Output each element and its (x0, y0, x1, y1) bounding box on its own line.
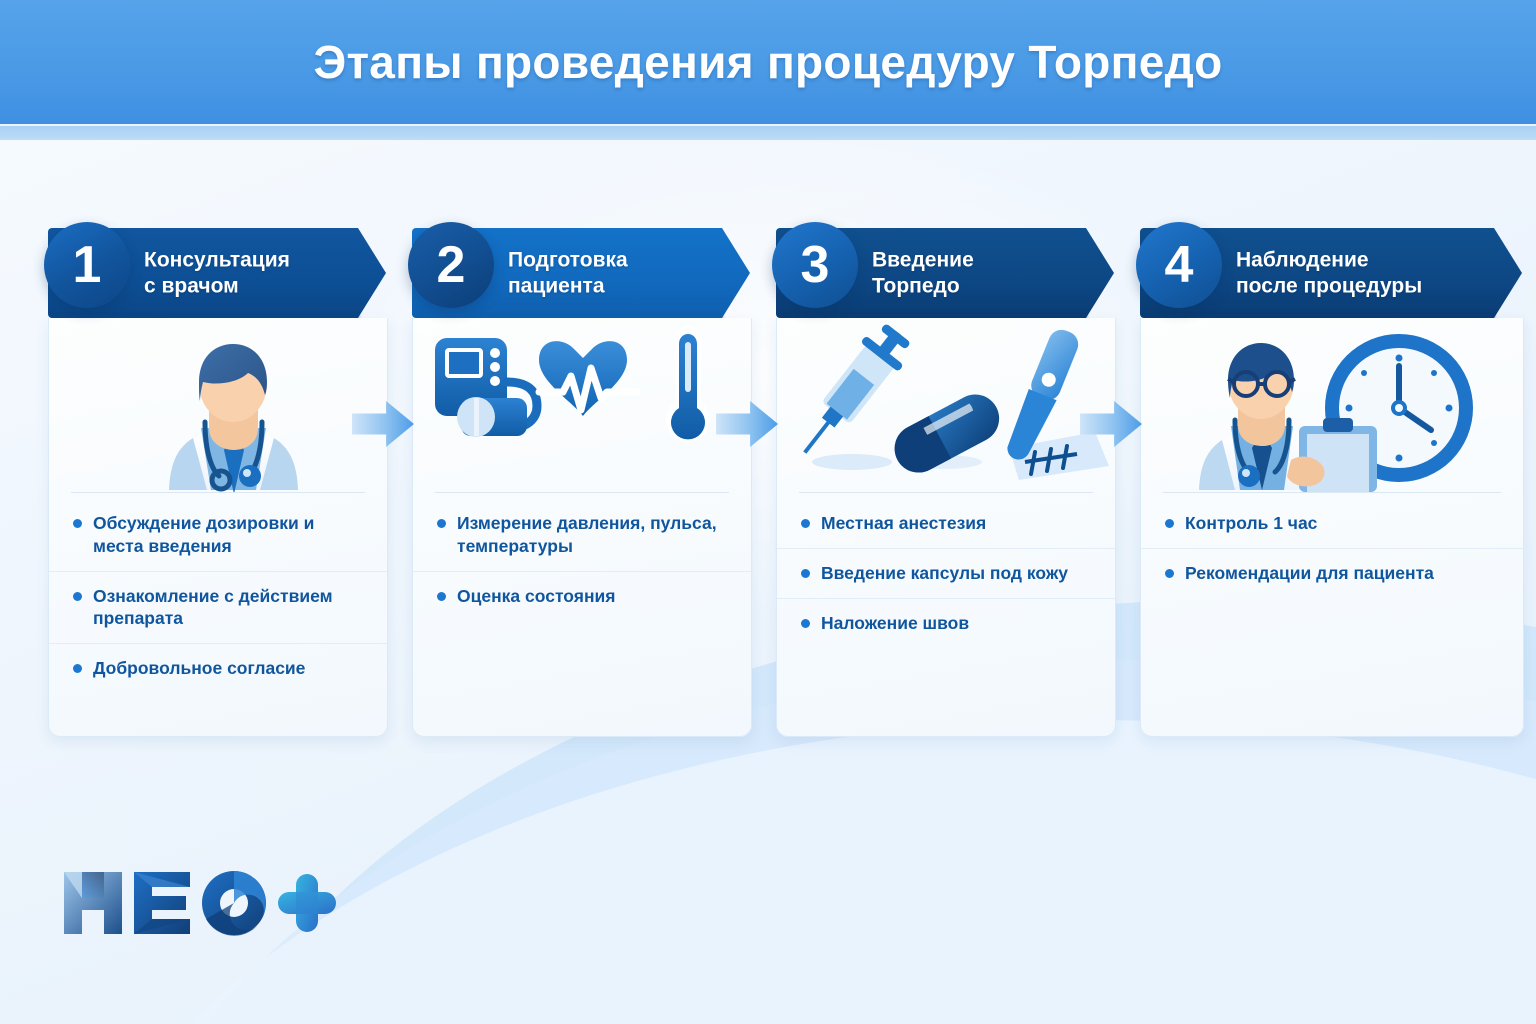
step-4-body: Контроль 1 час Рекомендации для пациента (1140, 318, 1524, 737)
list-item: Введение капсулы под кожу (777, 549, 1115, 599)
doctor-stethoscope-icon (49, 322, 387, 492)
step-2-title: Подготовка пациента (508, 247, 628, 298)
step-3-body: Местная анестезия Введение капсулы под к… (776, 318, 1116, 737)
steps-row: Консультация с врачом 1 (0, 228, 1536, 748)
arrow-step-1-to-2-icon (352, 400, 414, 448)
step-1-bullet-list: Обсуждение дозировки и места введения Оз… (49, 493, 387, 693)
step-card-2[interactable]: Подготовка пациента 2 (412, 228, 746, 737)
infographic-stage: Этапы проведения процедуру Торпедо Консу… (0, 0, 1536, 1024)
step-4-number-badge: 4 (1136, 222, 1222, 308)
step-1-number-badge: 1 (44, 222, 130, 308)
list-item: Добровольное согласие (49, 644, 387, 693)
page-header: Этапы проведения процедуру Торпедо (0, 0, 1536, 124)
blood-pressure-heart-thermometer-icon (413, 322, 751, 492)
step-2-banner: Подготовка пациента 2 (412, 228, 750, 318)
list-item: Обсуждение дозировки и места введения (49, 499, 387, 572)
doctor-clipboard-clock-icon (1141, 322, 1523, 492)
list-item: Оценка состояния (413, 572, 751, 621)
step-4-banner: Наблюдение после процедуры 4 (1140, 228, 1522, 318)
step-1-title: Консультация с врачом (144, 247, 290, 298)
page-title: Этапы проведения процедуру Торпедо (313, 35, 1222, 89)
list-item: Контроль 1 час (1141, 499, 1523, 549)
step-card-3[interactable]: Введение Торпедо 3 (776, 228, 1110, 737)
step-4-title: Наблюдение после процедуры (1236, 247, 1422, 298)
step-2-number-badge: 2 (408, 222, 494, 308)
step-3-number-badge: 3 (772, 222, 858, 308)
step-1-banner: Консультация с врачом 1 (48, 228, 386, 318)
list-item: Измерение давления, пульса, температуры (413, 499, 751, 572)
step-card-4[interactable]: Наблюдение после процедуры 4 (1140, 228, 1474, 737)
step-3-title: Введение Торпедо (872, 247, 974, 298)
syringe-capsule-scalpel-icon (777, 322, 1115, 492)
arrow-step-3-to-4-icon (1080, 400, 1142, 448)
step-3-bullet-list: Местная анестезия Введение капсулы под к… (777, 493, 1115, 647)
step-2-bullet-list: Измерение давления, пульса, температуры … (413, 493, 751, 620)
step-4-bullet-list: Контроль 1 час Рекомендации для пациента (1141, 493, 1523, 598)
arrow-step-2-to-3-icon (716, 400, 778, 448)
logo-plus-icon (278, 874, 336, 932)
step-3-banner: Введение Торпедо 3 (776, 228, 1114, 318)
logo-letter-e (134, 872, 190, 934)
list-item: Местная анестезия (777, 499, 1115, 549)
list-item: Рекомендации для пациента (1141, 549, 1523, 598)
step-1-body: Обсуждение дозировки и места введения Оз… (48, 318, 388, 737)
brand-logo[interactable] (62, 866, 362, 940)
list-item: Наложение швов (777, 599, 1115, 648)
step-2-body: Измерение давления, пульса, температуры … (412, 318, 752, 737)
list-item: Ознакомление с действием препарата (49, 572, 387, 645)
logo-letter-o (202, 871, 266, 936)
step-card-1[interactable]: Консультация с врачом 1 (48, 228, 382, 737)
header-accent-stripe (0, 126, 1536, 140)
logo-letter-n (64, 872, 122, 934)
